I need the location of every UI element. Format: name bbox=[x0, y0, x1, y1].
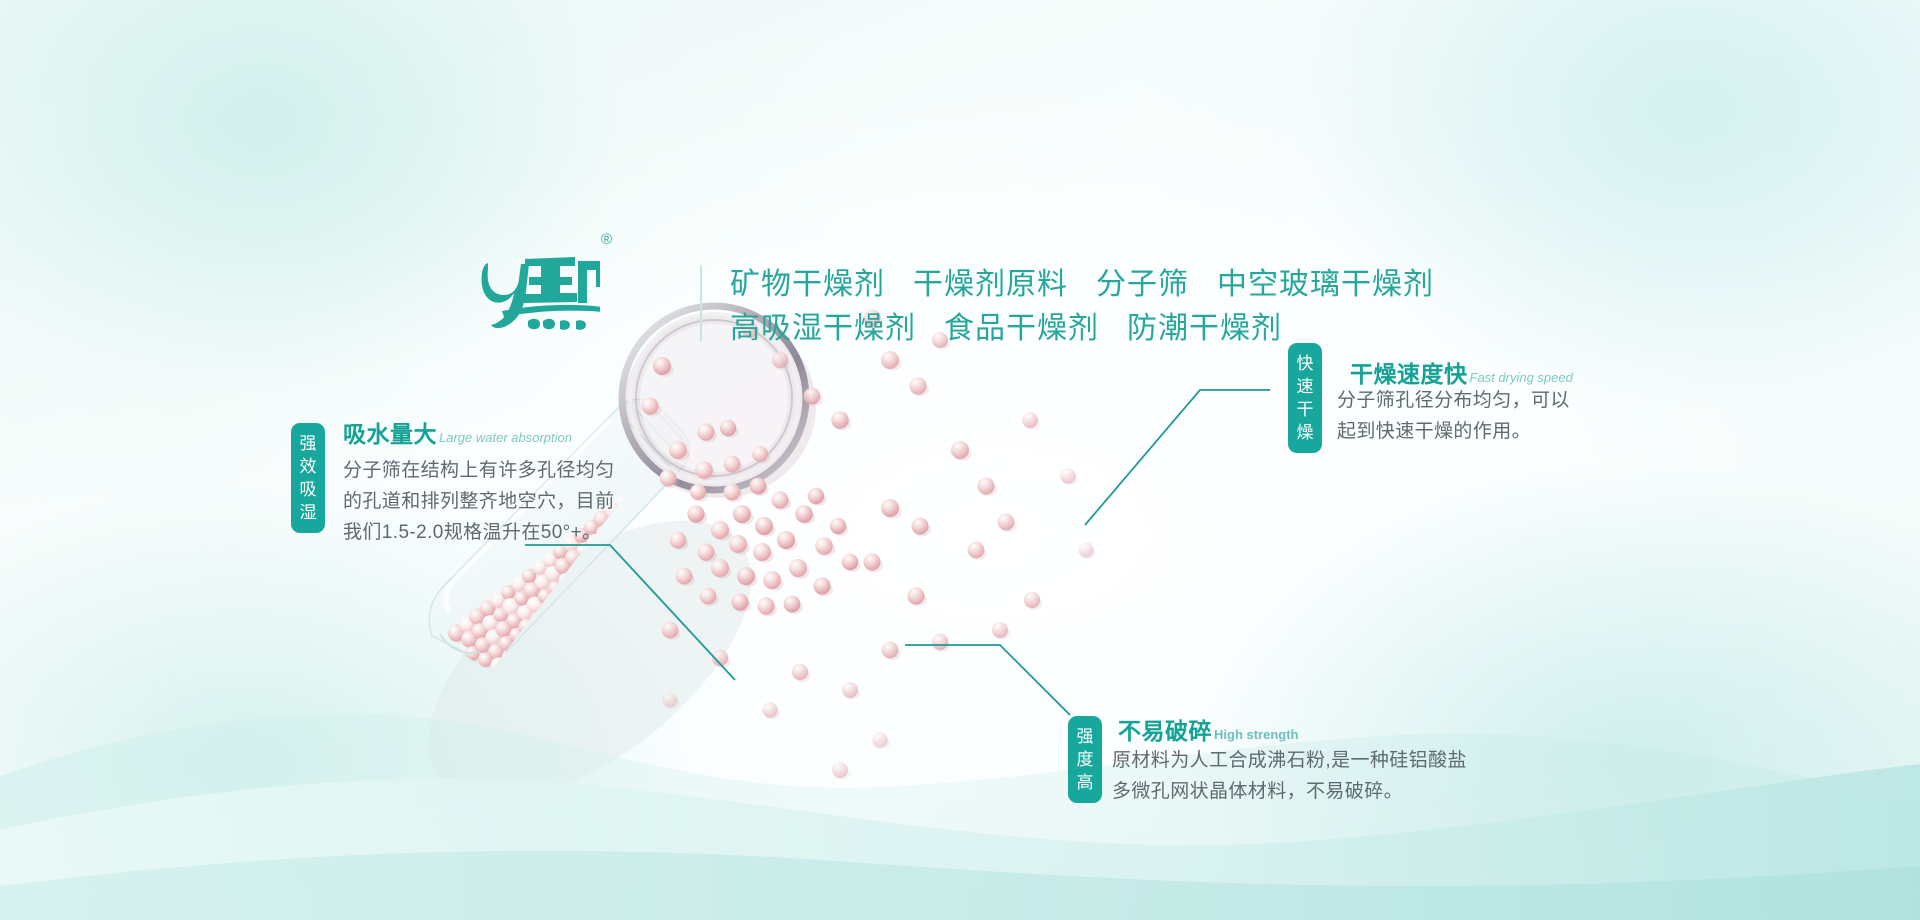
badge-fast-drying: 快 速 干 燥 bbox=[1288, 343, 1322, 453]
header: ® 矿物干燥剂 干燥剂原料 分子筛 中空玻璃干燥剂 高吸湿干燥剂 食品干燥剂 防… bbox=[0, 115, 1920, 225]
callout-subtitle: Fast drying speed bbox=[1470, 370, 1573, 385]
header-keywords: 矿物干燥剂 干燥剂原料 分子筛 中空玻璃干燥剂 高吸湿干燥剂 食品干燥剂 防潮干… bbox=[730, 263, 1630, 351]
callout-body: 分子筛孔径分布均匀，可以 起到快速干燥的作用。 bbox=[1337, 385, 1657, 447]
badge-high-strength: 强 度 高 bbox=[1068, 716, 1102, 803]
badge-char: 湿 bbox=[291, 501, 325, 524]
background-wash-bottom-right bbox=[1180, 460, 1920, 920]
wave-decoration bbox=[0, 690, 1920, 920]
callout-title: 干燥速度快 bbox=[1350, 361, 1468, 387]
callout-heading: 不易破碎High strength bbox=[1118, 712, 1299, 746]
callout-heading: 干燥速度快Fast drying speed bbox=[1350, 355, 1573, 389]
brand-logo[interactable]: ® bbox=[480, 233, 600, 337]
spilled-beads bbox=[662, 309, 1096, 779]
header-keyword-line-2: 高吸湿干燥剂 食品干燥剂 防潮干燥剂 bbox=[730, 307, 1630, 351]
callout-subtitle: Large water absorption bbox=[439, 430, 572, 445]
header-divider bbox=[700, 265, 702, 341]
callout-subtitle: High strength bbox=[1214, 727, 1299, 742]
callout-body: 原材料为人工合成沸石粉,是一种硅铝酸盐 多微孔网状晶体材料，不易破碎。 bbox=[1112, 745, 1562, 807]
connector-left bbox=[525, 545, 735, 680]
callout-heading: 吸水量大Large water absorption bbox=[343, 415, 572, 449]
connector-top-right bbox=[1085, 390, 1270, 525]
header-keyword-line-1: 矿物干燥剂 干燥剂原料 分子筛 中空玻璃干燥剂 bbox=[730, 263, 1630, 307]
badge-char: 效 bbox=[291, 455, 325, 478]
badge-char: 干 bbox=[1288, 398, 1322, 421]
connector-bottom-right bbox=[905, 645, 1070, 715]
callout-title: 不易破碎 bbox=[1118, 718, 1212, 744]
registered-mark-icon: ® bbox=[601, 231, 612, 248]
badge-char: 强 bbox=[291, 432, 325, 455]
callout-title: 吸水量大 bbox=[343, 421, 437, 447]
banner-stage: ® 矿物干燥剂 干燥剂原料 分子筛 中空玻璃干燥剂 高吸湿干燥剂 食品干燥剂 防… bbox=[0, 0, 1920, 920]
badge-char: 燥 bbox=[1288, 421, 1322, 444]
badge-char: 强 bbox=[1068, 725, 1102, 748]
badge-char: 吸 bbox=[291, 478, 325, 501]
badge-strong-moisture-absorption: 强 效 吸 湿 bbox=[291, 423, 325, 533]
badge-char: 速 bbox=[1288, 375, 1322, 398]
badge-char: 高 bbox=[1068, 771, 1102, 794]
logo-mark bbox=[480, 233, 600, 337]
badge-char: 快 bbox=[1288, 352, 1322, 375]
callout-body: 分子筛在结构上有许多孔径均匀 的孔道和排列整齐地空穴，目前 我们1.5-2.0规… bbox=[343, 455, 673, 548]
badge-char: 度 bbox=[1068, 748, 1102, 771]
